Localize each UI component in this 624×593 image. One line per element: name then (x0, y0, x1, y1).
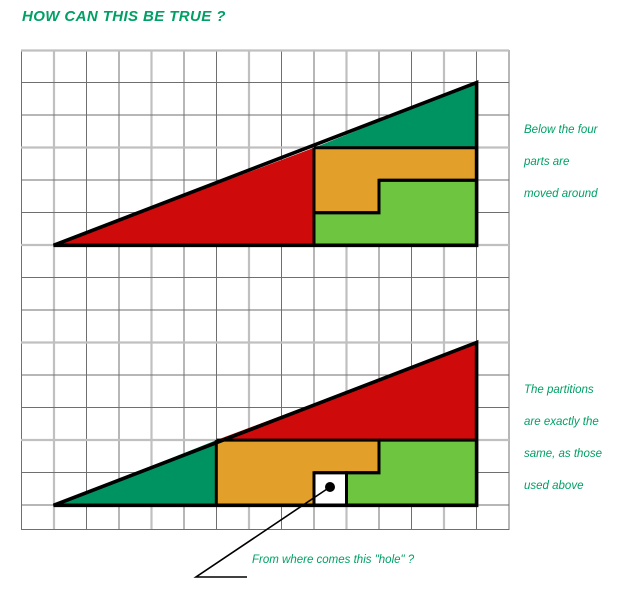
annotation-bottom-line-3: same, as those (524, 438, 602, 470)
upper-figure (54, 83, 477, 246)
hole-caption: From where comes this "hole" ? (252, 552, 414, 568)
hole-marker-dot (325, 482, 335, 492)
annotation-top-line-2: parts are (524, 146, 569, 178)
page-title: HOW CAN THIS BE TRUE ? (22, 8, 226, 25)
lower-figure (54, 343, 477, 506)
annotation-bottom-line-4: used above (524, 470, 583, 502)
annotation-top-line-1: Below the four (524, 114, 598, 146)
annotation-bottom-line-1: The partitions (524, 374, 594, 406)
annotation-bottom-line-2: are exactly the (524, 406, 599, 438)
annotation-top-line-3: moved around (524, 178, 598, 210)
